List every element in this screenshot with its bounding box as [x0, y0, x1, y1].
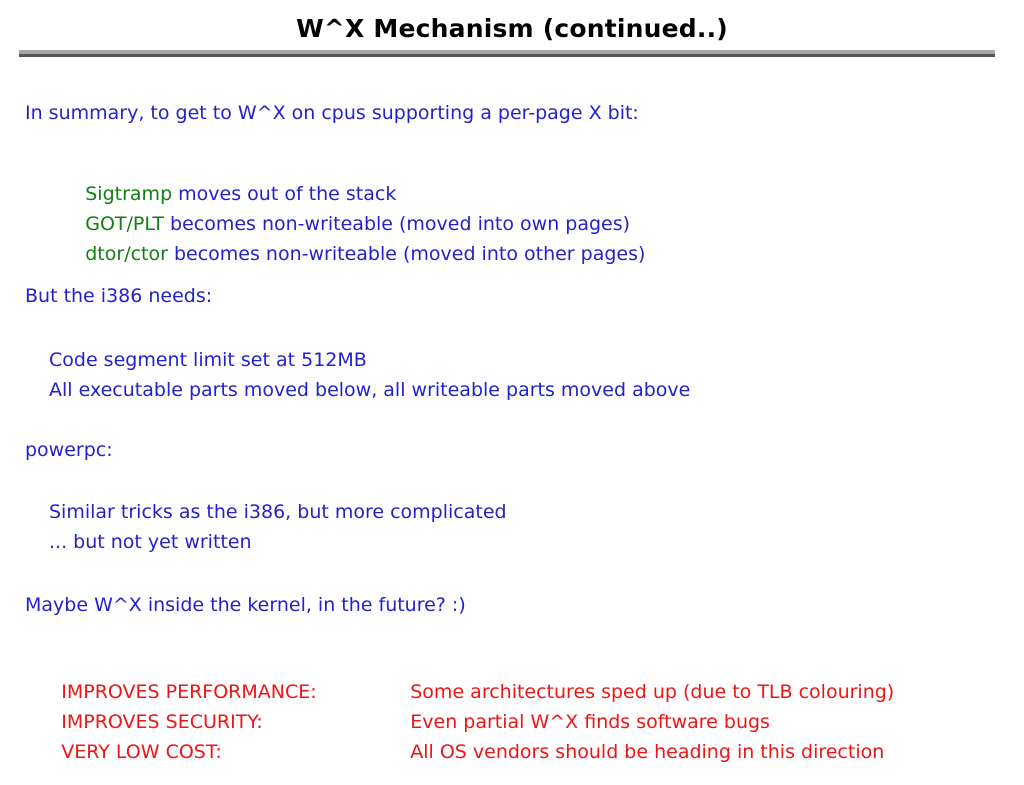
powerpc-item-1: Similar tricks as the i386, but more com… [49, 501, 507, 523]
summary-text: becomes non-writeable (moved into other … [168, 243, 645, 265]
i386-heading: But the i386 needs: [25, 285, 212, 307]
benefit-label: VERY LOW COST: [61, 741, 410, 763]
slide: W^X Mechanism (continued..) In summary, … [0, 0, 1024, 768]
intro-line: In summary, to get to W^X on cpus suppor… [25, 102, 639, 124]
summary-keyword: dtor/ctor [85, 243, 168, 265]
i386-item-2: All executable parts moved below, all wr… [49, 379, 690, 401]
summary-item-dtor-ctor: dtor/ctor becomes non-writeable (moved i… [49, 221, 645, 287]
benefit-row: VERY LOW COST:All OS vendors should be h… [25, 719, 985, 785]
kernel-note-line: Maybe W^X inside the kernel, in the futu… [25, 594, 466, 616]
powerpc-heading: powerpc: [25, 439, 113, 461]
i386-item-1: Code segment limit set at 512MB [49, 349, 367, 371]
benefit-value: All OS vendors should be heading in this… [410, 741, 884, 763]
slide-body: In summary, to get to W^X on cpus suppor… [0, 0, 1024, 768]
powerpc-item-2: ... but not yet written [49, 531, 252, 553]
